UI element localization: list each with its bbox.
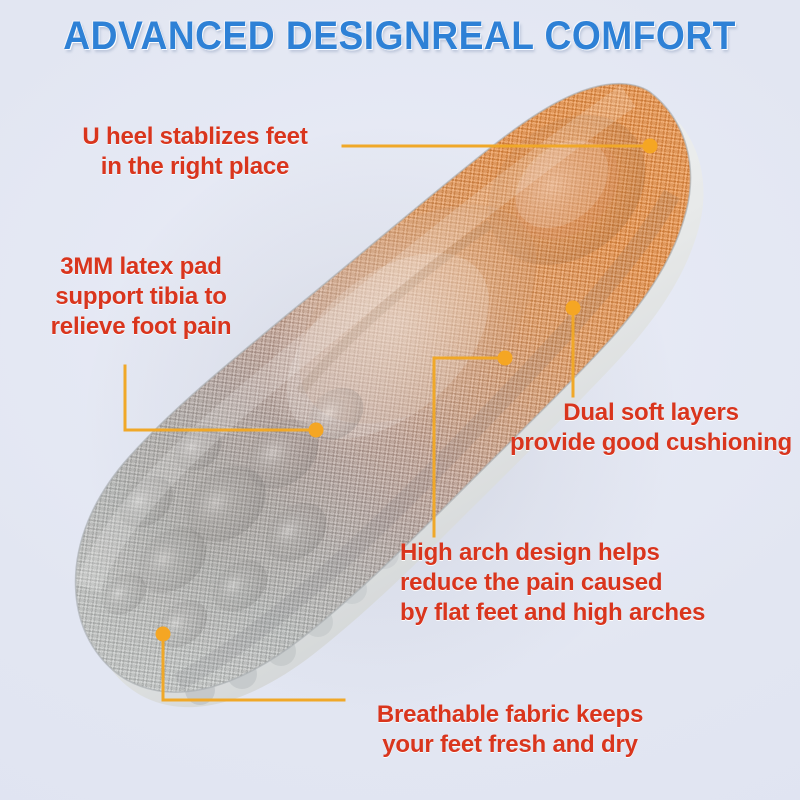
callout-u-heel-line-1: U heel stablizes feet	[50, 122, 340, 152]
callout-high-arch: High arch design helps reduce the pain c…	[400, 538, 798, 627]
callout-latex-pad-line-2: support tibia to	[16, 282, 266, 312]
callout-dual-layers-line-2: provide good cushioning	[505, 428, 797, 458]
callout-high-arch-line-1: High arch design helps	[400, 538, 798, 568]
callout-breathable-line-1: Breathable fabric keeps	[340, 700, 680, 730]
callout-high-arch-line-2: reduce the pain caused	[400, 568, 798, 598]
callout-u-heel: U heel stablizes feet in the right place	[50, 122, 340, 182]
page-title: ADVANCED DESIGNREAL COMFORT	[0, 6, 800, 66]
callout-latex-pad-line-3: relieve foot pain	[16, 312, 266, 342]
callout-u-heel-line-2: in the right place	[50, 152, 340, 182]
callout-latex-pad-line-1: 3MM latex pad	[16, 252, 266, 282]
callout-high-arch-line-3: by flat feet and high arches	[400, 598, 798, 628]
callout-latex-pad: 3MM latex pad support tibia to relieve f…	[16, 252, 266, 341]
callout-dual-layers: Dual soft layers provide good cushioning	[505, 398, 797, 458]
callout-breathable-line-2: your feet fresh and dry	[340, 730, 680, 760]
callout-dual-layers-line-1: Dual soft layers	[505, 398, 797, 428]
infographic-canvas: ADVANCED DESIGNREAL COMFORT U heel stabl…	[0, 0, 800, 800]
callout-breathable-fabric: Breathable fabric keeps your feet fresh …	[340, 700, 680, 760]
page-title-text: ADVANCED DESIGNREAL COMFORT	[64, 14, 737, 59]
